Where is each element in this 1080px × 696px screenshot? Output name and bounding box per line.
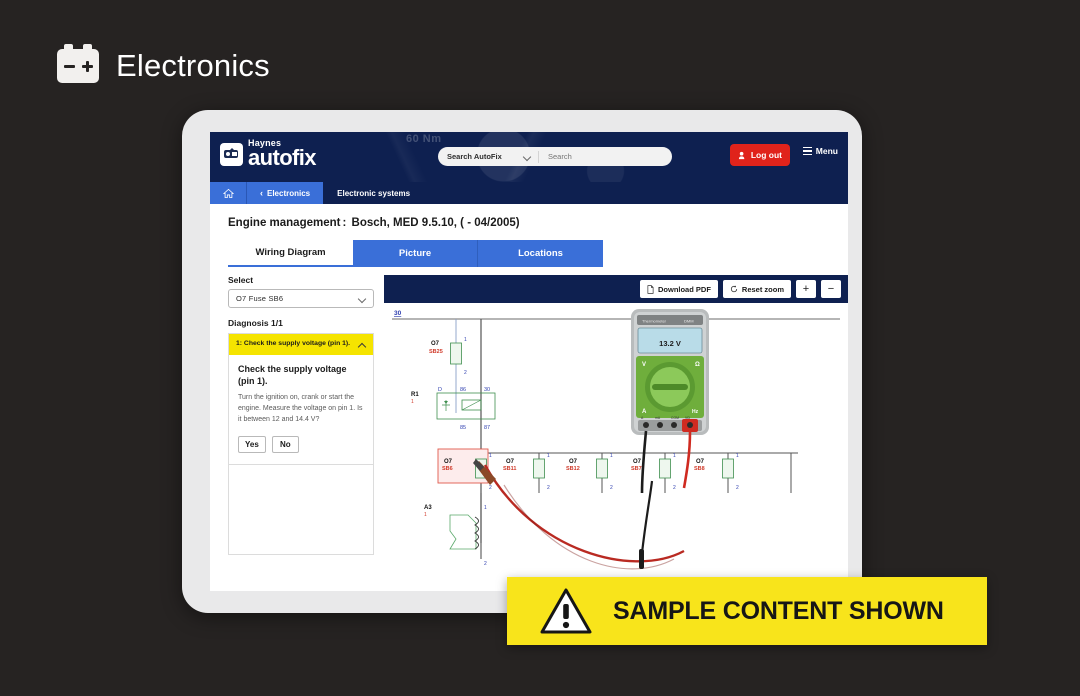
search-input[interactable] [539,152,672,161]
battery-icon [57,49,99,83]
svg-text:D: D [438,387,442,393]
diagnosis-step-header[interactable]: 1: Check the supply voltage (pin 1). [229,334,373,355]
document-icon [647,285,654,294]
svg-text:O7: O7 [633,459,642,465]
diagnosis-step-header-label: 1: Check the supply voltage (pin 1). [236,339,350,348]
svg-text:1: 1 [424,512,427,518]
svg-text:1: 1 [547,453,550,459]
svg-text:Thermometer: Thermometer [642,319,667,324]
menu-button[interactable]: Menu [803,146,838,156]
component-select[interactable]: O7 Fuse SB6 [228,289,374,308]
document-title-right: Bosch, MED 9.5.10, ( - 04/2005) [352,217,520,229]
svg-text:O7: O7 [431,341,440,347]
chevron-down-icon [524,153,531,160]
page-title: Electronics [116,48,270,84]
svg-text:O7: O7 [444,459,453,465]
refresh-icon [730,285,738,293]
svg-text:R1: R1 [411,392,419,398]
left-panel: Select O7 Fuse SB6 Diagnosis 1/1 1: Chec… [228,275,374,581]
search-category-label: Search AutoFix [447,152,502,161]
svg-text:A: A [642,409,647,415]
svg-text:2: 2 [484,561,487,567]
svg-text:SB11: SB11 [503,466,516,472]
svg-text:Hz: Hz [692,409,699,415]
svg-text:2: 2 [610,485,613,491]
reset-zoom-label: Reset zoom [742,285,784,294]
svg-text:SB7: SB7 [631,466,642,472]
select-label: Select [228,275,374,285]
svg-text:1: 1 [464,337,467,343]
svg-text:2: 2 [464,370,467,376]
svg-text:SB6: SB6 [442,466,453,472]
svg-text:VΩ: VΩ [685,416,690,420]
tab-locations[interactable]: Locations [478,240,603,267]
tab-bar: Wiring Diagram Picture Locations [228,240,848,267]
svg-text:1: 1 [411,399,414,405]
diagnosis-step-card: 1: Check the supply voltage (pin 1). Che… [228,333,374,465]
breadcrumb-back-electronics[interactable]: ‹ Electronics [246,182,323,204]
app-header: 60 Nm Haynes autofix [210,132,848,182]
wiring-diagram-svg: 30 O7 SB25 1 2 [384,303,848,581]
tab-wiring-diagram[interactable]: Wiring Diagram [228,240,353,267]
zoom-out-button[interactable]: − [821,280,841,298]
wiring-diagram-canvas[interactable]: 30 O7 SB25 1 2 [384,303,848,581]
svg-text:2: 2 [736,485,739,491]
tab-picture[interactable]: Picture [353,240,478,267]
breadcrumb-current: Electronic systems [323,182,424,204]
svg-text:SB25: SB25 [429,349,443,355]
svg-text:DMM: DMM [684,319,694,324]
search-bar[interactable]: Search AutoFix [438,147,672,166]
left-panel-filler [228,465,374,555]
svg-text:1: 1 [610,453,613,459]
diagnosis-answer-buttons: Yes No [238,436,364,453]
svg-text:1: 1 [736,453,739,459]
svg-text:O7: O7 [569,459,578,465]
svg-text:1: 1 [673,453,676,459]
page-content: Engine management: Bosch, MED 9.5.10, ( … [210,204,848,591]
logout-button[interactable]: Log out [730,144,790,166]
home-icon [223,188,234,199]
svg-text:2: 2 [673,485,676,491]
menu-label: Menu [816,146,838,156]
logo-autofix-text: autofix [248,147,316,169]
svg-text:2: 2 [489,485,492,491]
document-title: Engine management: Bosch, MED 9.5.10, ( … [210,204,848,229]
document-title-left: Engine management [228,217,340,229]
svg-text:1: 1 [484,505,487,511]
diagnosis-step-text: Turn the ignition on, crank or start the… [238,393,364,426]
tablet-device: 60 Nm Haynes autofix [182,110,862,613]
diagnosis-label: Diagnosis 1/1 [228,318,374,328]
header-torque-annotation: 60 Nm [406,133,442,145]
chevron-left-icon: ‹ [260,189,263,198]
breadcrumb: ‹ Electronics Electronic systems [210,182,848,204]
svg-text:30: 30 [394,310,402,317]
chevron-up-icon [358,342,366,350]
svg-text:mA: mA [655,416,661,420]
svg-text:1: 1 [489,453,492,459]
svg-text:V: V [642,362,646,368]
sample-content-label: SAMPLE CONTENT SHOWN [613,597,944,626]
document-title-separator: : [342,217,346,229]
breadcrumb-home-button[interactable] [210,182,246,204]
search-category-dropdown[interactable]: Search AutoFix [438,152,538,161]
haynes-autofix-logo[interactable]: Haynes autofix [220,139,316,169]
svg-text:SB12: SB12 [566,466,580,472]
panes: Select O7 Fuse SB6 Diagnosis 1/1 1: Chec… [228,275,848,581]
diagnosis-step-body: Check the supply voltage (pin 1). Turn t… [229,355,373,464]
tablet-screen: 60 Nm Haynes autofix [210,132,848,591]
svg-text:SB8: SB8 [694,466,705,472]
svg-text:COM: COM [671,416,679,420]
svg-text:2: 2 [547,485,550,491]
svg-text:O7: O7 [506,459,515,465]
hamburger-icon [803,147,812,155]
screenshot-root: Electronics 60 Nm [0,0,1080,696]
svg-text:A3: A3 [424,505,432,511]
user-icon [738,151,747,160]
svg-text:Ω: Ω [695,362,700,368]
svg-text:85: 85 [460,425,466,431]
sample-content-banner: SAMPLE CONTENT SHOWN [507,577,987,645]
answer-no-button[interactable]: No [272,436,299,453]
answer-yes-button[interactable]: Yes [238,436,266,453]
svg-text:30: 30 [484,387,490,393]
svg-text:13.2 V: 13.2 V [659,339,681,348]
chevron-down-icon [359,295,366,302]
download-pdf-button[interactable]: Download PDF [640,280,718,298]
zoom-in-button[interactable]: + [796,280,816,298]
svg-text:87: 87 [484,425,490,431]
diagram-toolbar: Download PDF Reset zoom + − [384,275,848,303]
diagnosis-step-heading: Check the supply voltage (pin 1). [238,363,364,387]
warning-triangle-icon [539,587,593,635]
haynes-logo-icon [220,143,243,166]
svg-text:86: 86 [460,387,466,393]
svg-text:O7: O7 [696,459,705,465]
reset-zoom-button[interactable]: Reset zoom [723,280,791,298]
logout-label: Log out [751,150,782,160]
page-title-row: Electronics [57,48,270,84]
diagram-panel: Download PDF Reset zoom + − [384,275,848,581]
breadcrumb-back-label: Electronics [267,189,310,198]
component-select-value: O7 Fuse SB6 [236,294,283,303]
download-pdf-label: Download PDF [658,285,711,294]
